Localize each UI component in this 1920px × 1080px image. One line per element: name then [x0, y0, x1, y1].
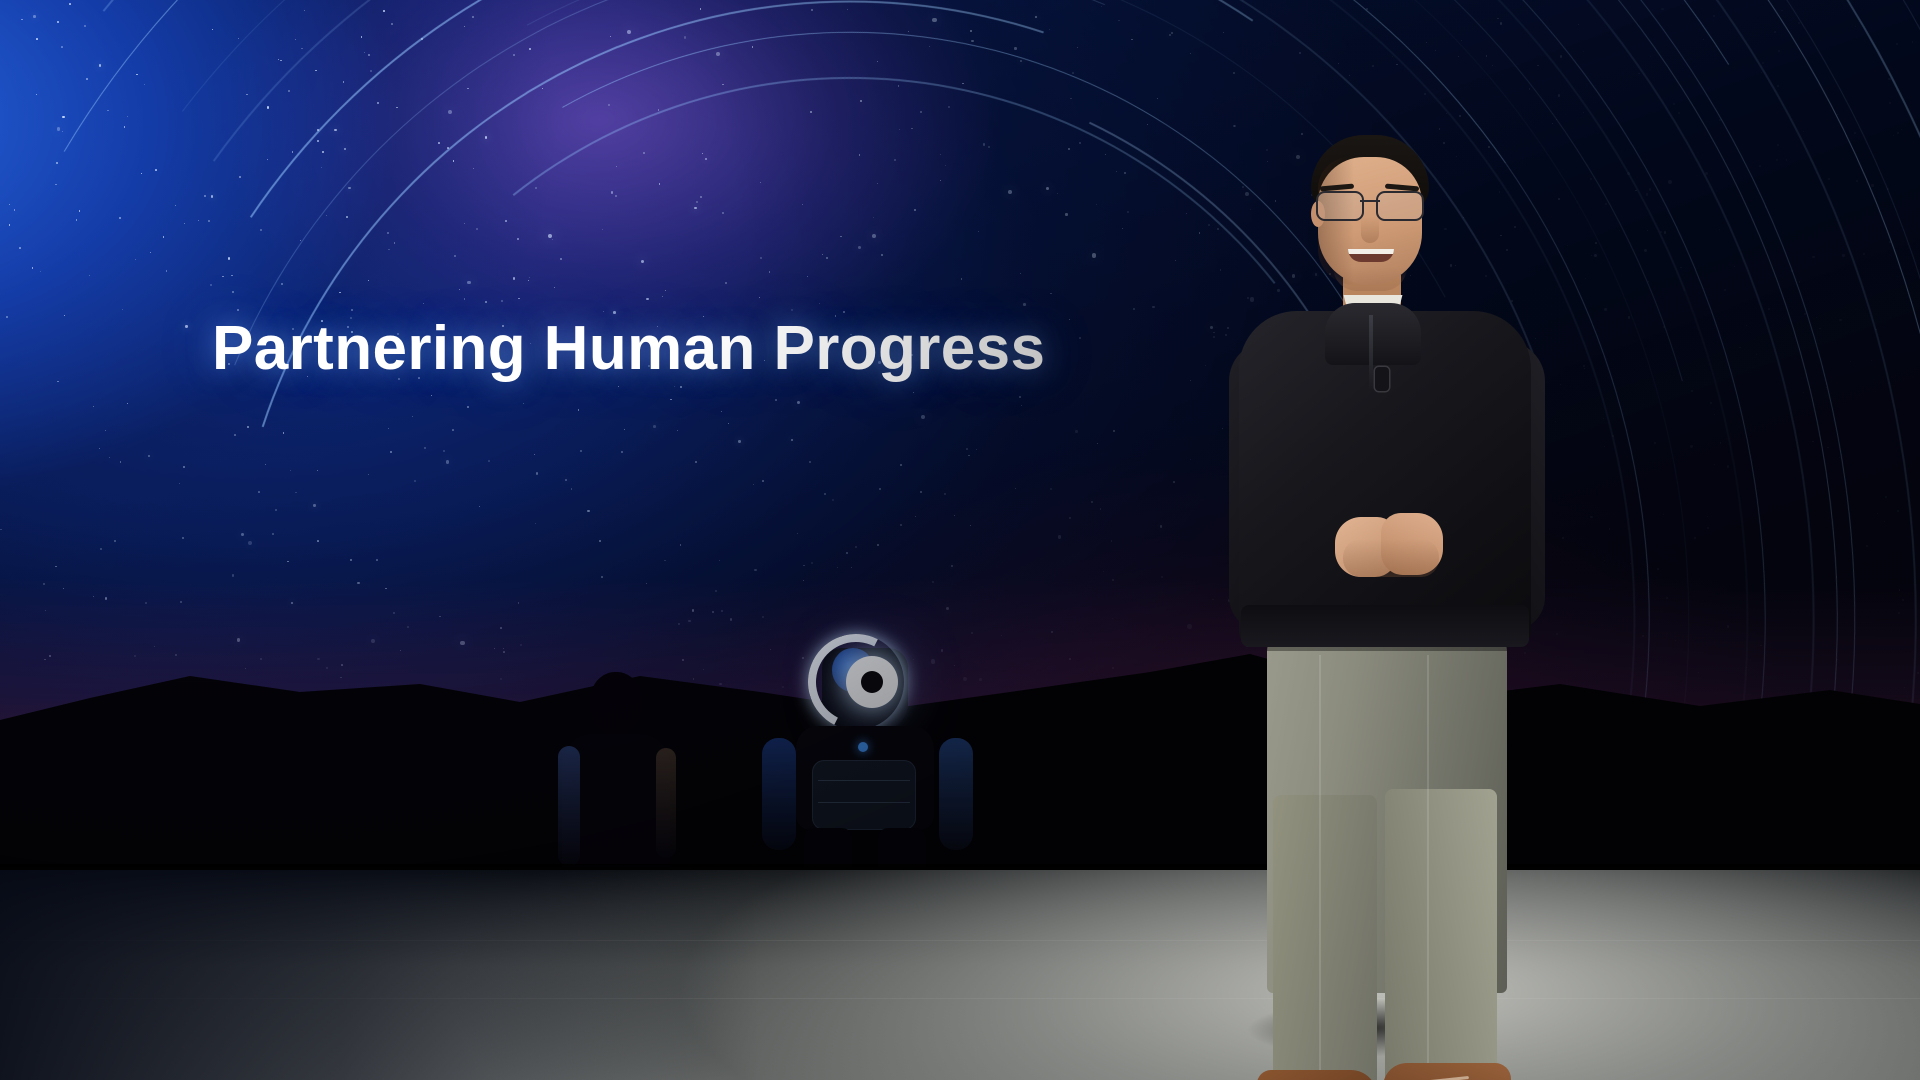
silhouette-left-arm: [558, 746, 580, 866]
eyeglasses-icon: [1314, 191, 1426, 219]
robot-left-arm: [762, 738, 796, 850]
led-screen-backdrop: Partnering Human Progress: [0, 0, 1920, 880]
screen-robot-figure: [760, 630, 975, 880]
robot-pupil: [861, 671, 883, 693]
speaker-right-trouser-leg: [1385, 789, 1497, 1080]
speaker-nose: [1361, 217, 1379, 243]
speaker-left-trouser-leg: [1273, 795, 1377, 1080]
speaker-figure: [1215, 135, 1555, 1040]
speaker-interlaced-fingers: [1343, 539, 1439, 577]
robot-chest-plate: [812, 760, 916, 830]
speaker-mouth: [1348, 249, 1394, 262]
lapel-microphone-icon: [1375, 367, 1389, 391]
led-screen-headline: Partnering Human Progress: [212, 318, 1045, 380]
stage-scene: Partnering Human Progress: [0, 0, 1920, 1080]
robot-chest-indicator-light: [858, 742, 868, 752]
silhouette-right-arm: [656, 748, 676, 858]
screen-human-silhouette: [556, 672, 676, 880]
stage-floor-shadow-left: [0, 870, 760, 1080]
speaker-sweater-collar: [1325, 303, 1421, 365]
speaker-quarter-zip: [1369, 315, 1373, 389]
robot-right-arm: [939, 738, 973, 850]
speaker-sweater-hem: [1241, 605, 1529, 647]
speaker-left-shoe: [1257, 1070, 1377, 1080]
